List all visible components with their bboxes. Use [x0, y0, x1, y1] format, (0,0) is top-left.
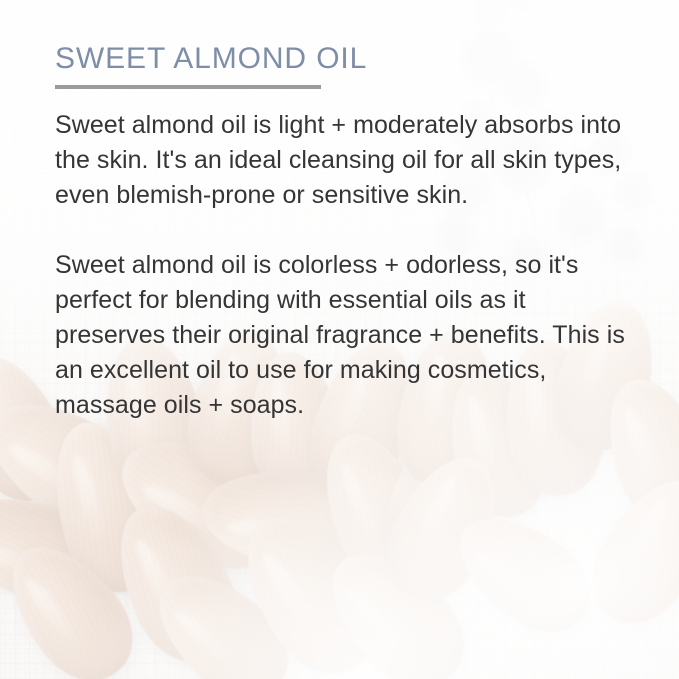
almond	[197, 462, 370, 575]
almond	[0, 480, 110, 614]
almond	[0, 524, 153, 679]
almond	[439, 494, 609, 651]
product-info-card: SWEET ALMOND OIL Sweet almond oil is lig…	[0, 0, 679, 679]
almond	[100, 414, 305, 590]
almond	[219, 494, 401, 679]
almond	[372, 410, 508, 590]
text-content: SWEET ALMOND OIL Sweet almond oil is lig…	[55, 42, 625, 423]
body-paragraph-2: Sweet almond oil is colorless + odorless…	[55, 248, 625, 423]
almond	[307, 529, 486, 679]
almond	[36, 410, 176, 604]
page-title: SWEET ALMOND OIL	[55, 42, 625, 76]
almond	[369, 440, 518, 617]
almond	[304, 418, 448, 597]
almond	[574, 461, 679, 640]
almond	[95, 486, 258, 679]
title-divider	[55, 85, 321, 89]
almond	[135, 551, 308, 679]
body-paragraph-1: Sweet almond oil is light + moderately a…	[55, 108, 625, 213]
